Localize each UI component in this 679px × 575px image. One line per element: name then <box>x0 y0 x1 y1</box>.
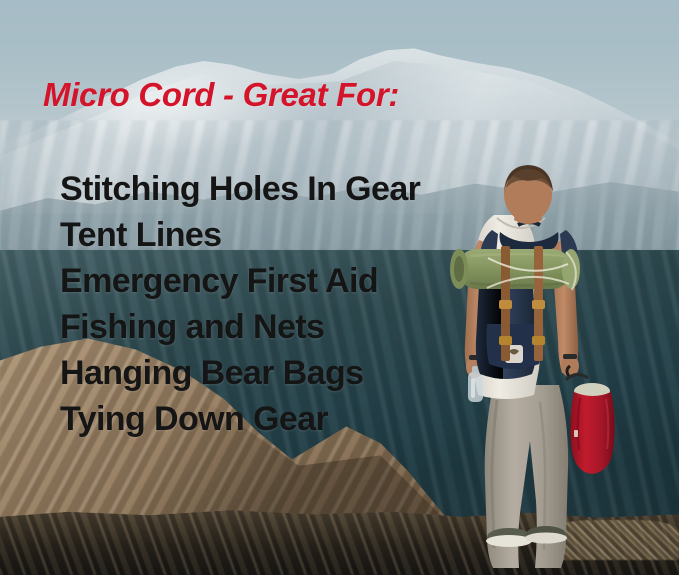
red-stuff-sack <box>566 366 615 474</box>
marketing-banner: Micro Cord - Great For: Stitching Holes … <box>0 0 679 575</box>
list-item: Hanging Bear Bags <box>60 350 420 396</box>
uses-list: Stitching Holes In Gear Tent Lines Emerg… <box>60 166 420 442</box>
wrist-band-right <box>563 354 577 359</box>
list-item: Tying Down Gear <box>60 396 420 442</box>
list-item: Emergency First Aid <box>60 258 420 304</box>
brass-buckle-right <box>532 300 545 309</box>
list-item: Fishing and Nets <box>60 304 420 350</box>
page-title: Micro Cord - Great For: <box>43 76 399 114</box>
list-item: Tent Lines <box>60 212 420 258</box>
list-item: Stitching Holes In Gear <box>60 166 420 212</box>
brass-buckle-left <box>499 300 512 309</box>
